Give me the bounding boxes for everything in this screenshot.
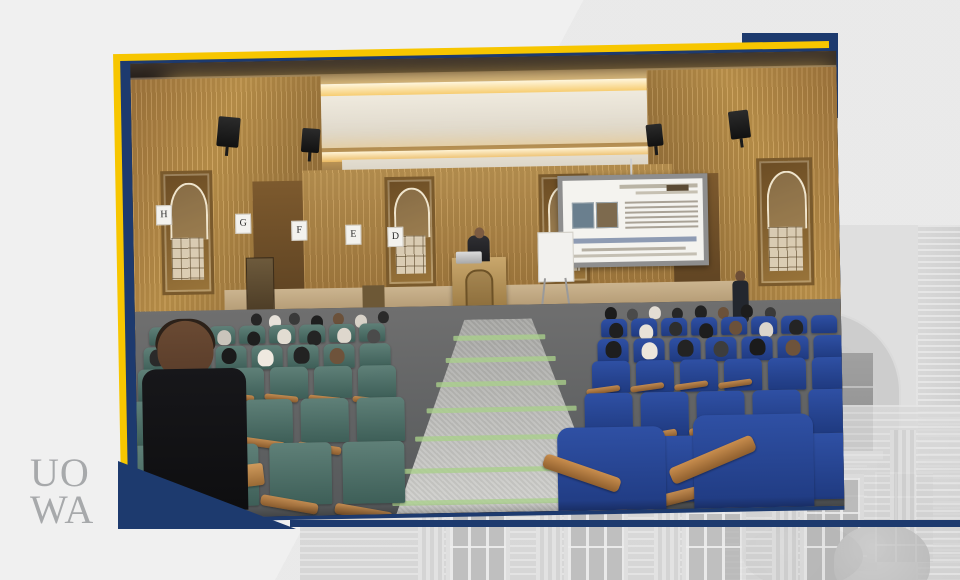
podium: [452, 257, 507, 310]
row-marker-g: G: [235, 214, 251, 234]
ceiling-speaker-icon: [216, 116, 241, 148]
navy-bottom-band: [290, 520, 960, 527]
ceiling-speaker-icon: [301, 128, 321, 153]
auditorium-photo: H G F E D: [130, 51, 844, 519]
laptop-icon: [456, 251, 482, 263]
poster-canvas: H G F E D: [0, 0, 960, 580]
auditorium-photo-card: H G F E D: [118, 39, 846, 522]
row-marker-d: D: [387, 227, 403, 247]
row-marker-f: F: [291, 221, 307, 241]
ceiling-speaker-icon: [645, 123, 663, 147]
flipchart-easel: [537, 232, 574, 283]
ceiling-speaker-icon: [728, 110, 751, 140]
calligraphy-panel: [756, 157, 814, 286]
row-marker-h: H: [156, 205, 172, 225]
row-marker-e: E: [345, 225, 361, 245]
presentation-screen: [557, 173, 709, 268]
logo-line-2: WA: [30, 492, 140, 529]
uowa-logo: UO WA: [30, 455, 140, 535]
slide-portrait: [596, 202, 618, 228]
calligraphy-panel: [160, 170, 214, 295]
slide-portrait: [572, 202, 594, 228]
